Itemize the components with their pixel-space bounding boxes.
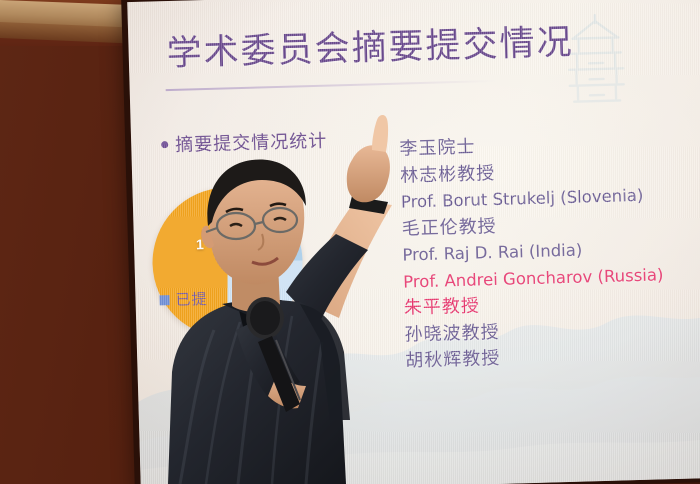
pie-chart-slices [150,185,304,339]
title-underline [166,80,496,91]
committee-name-list: 李玉院士 林志彬教授 Prof. Borut Strukelj (Sloveni… [399,128,700,375]
legend-label: 已提 [175,288,208,310]
pie-chart: 1 [150,185,304,339]
slide-title: 学术委员会摘要提交情况 [166,24,574,74]
bullet-dot-icon [161,141,168,148]
projection-screen: 学术委员会摘要提交情况 摘要提交情况统计 1 已提 李玉院士 林志彬教授 Pro… [127,0,700,484]
pie-data-label: 1 [196,236,204,252]
conference-photo: 学术委员会摘要提交情况 摘要提交情况统计 1 已提 李玉院士 林志彬教授 Pro… [0,0,700,484]
bullet-label: 摘要提交情况统计 [175,127,328,157]
legend-swatch-icon [159,295,169,305]
chart-legend: 已提 [159,288,208,310]
slide-bullet: 摘要提交情况统计 [161,127,328,158]
